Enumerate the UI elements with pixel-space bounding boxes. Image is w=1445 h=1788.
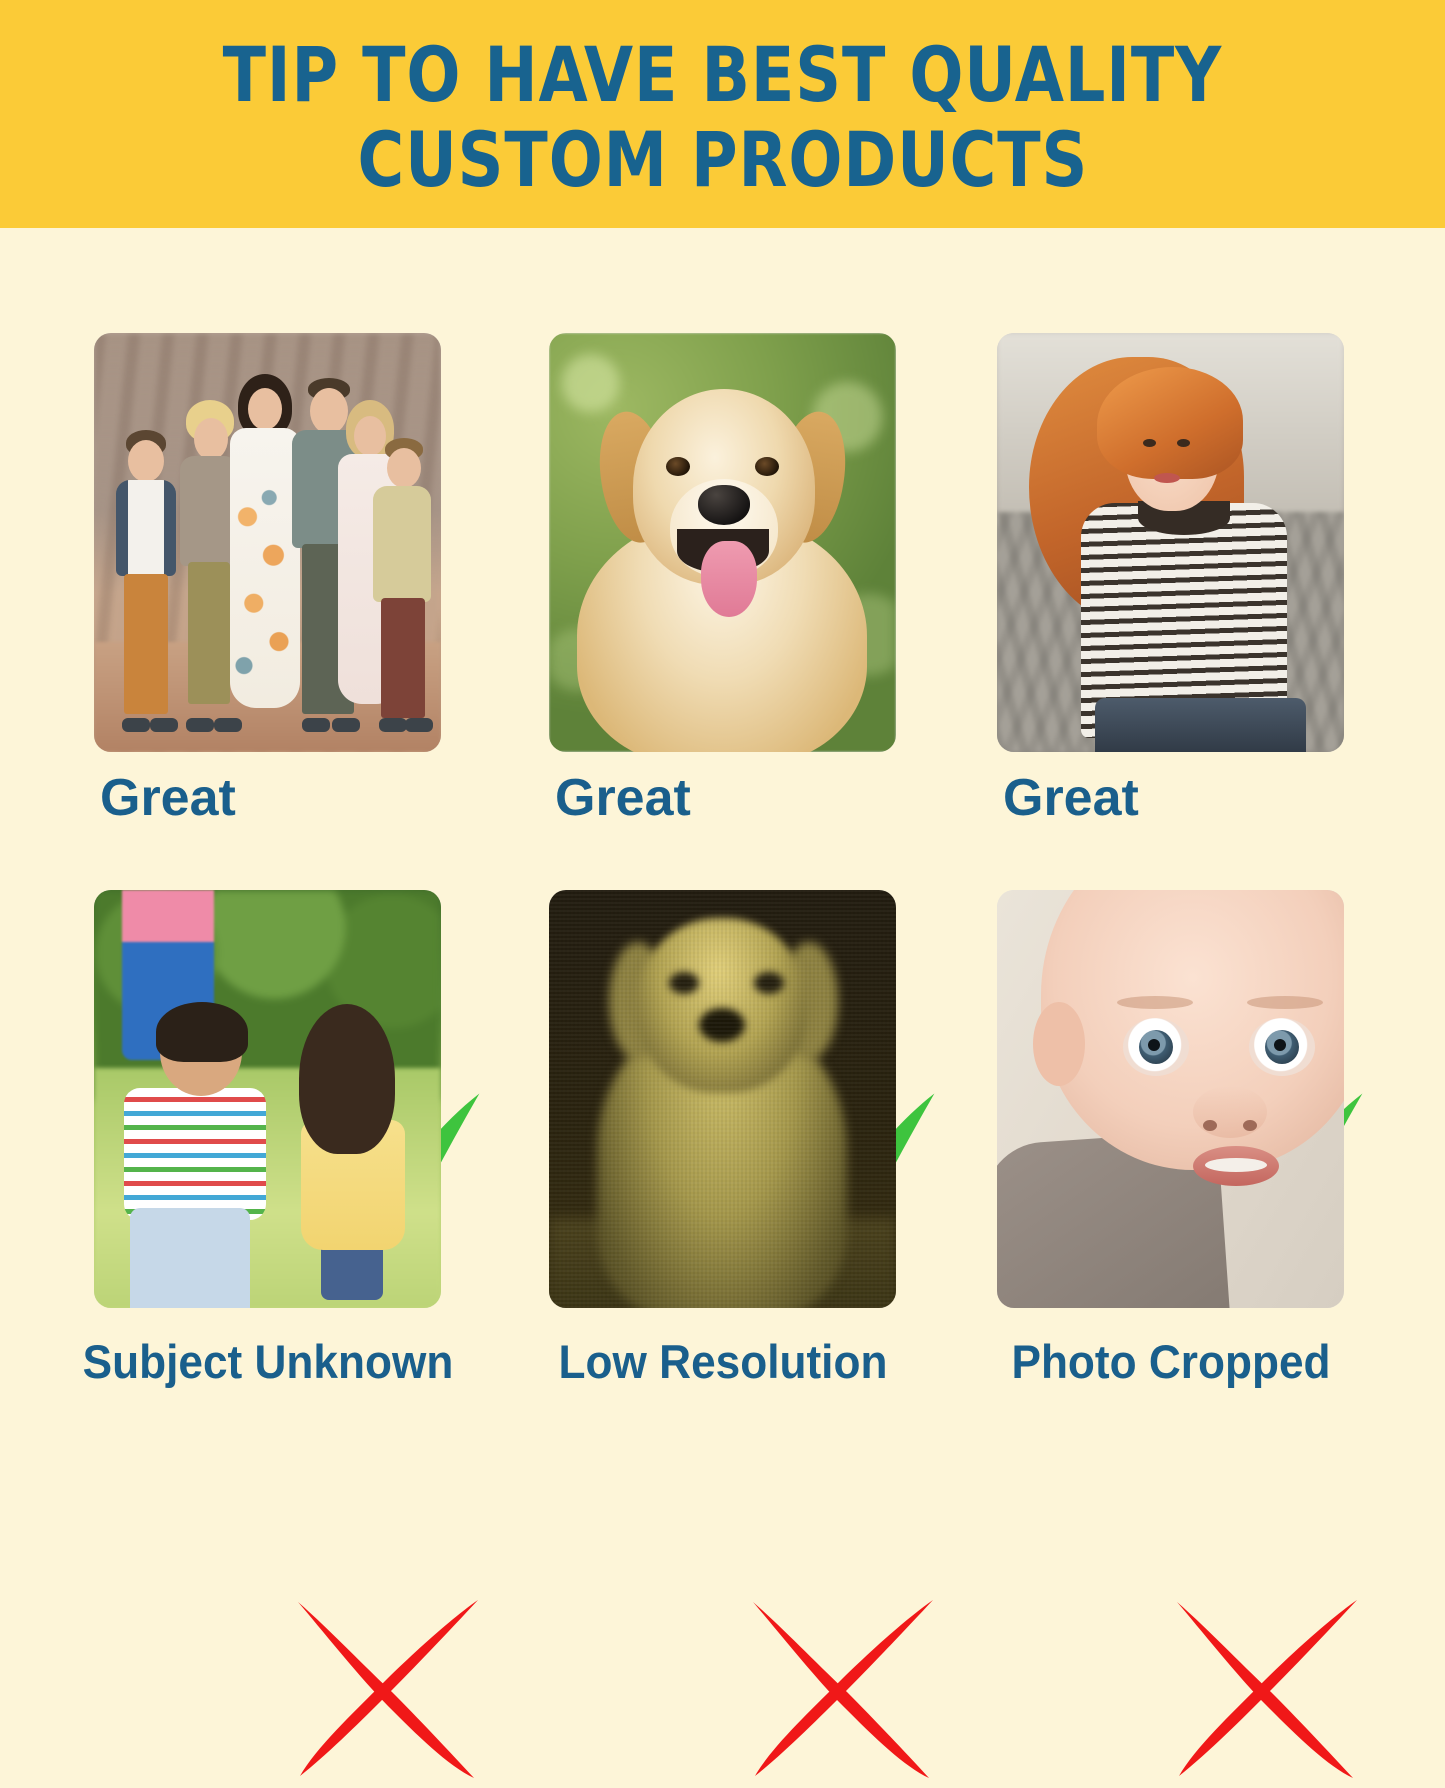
- dog-nose: [698, 485, 750, 525]
- example-card-family-photo: Great: [94, 333, 441, 848]
- photo-artwork-children: [94, 890, 441, 1308]
- baby-nostril-left: [1203, 1120, 1217, 1131]
- head: [128, 440, 164, 482]
- dog-tongue: [701, 541, 757, 617]
- shoe: [122, 718, 150, 732]
- photo-cropped-baby: [997, 890, 1344, 1308]
- photo-golden-retriever-sharp: [549, 333, 896, 752]
- torso: [116, 480, 176, 576]
- torso: [373, 486, 431, 602]
- child-boy: [114, 1008, 284, 1308]
- example-card-cropped-baby: Photo Cropped: [997, 890, 1344, 1404]
- baby-brow-left: [1117, 996, 1193, 1009]
- pixelation-noise: [549, 890, 896, 1308]
- baby-nose: [1193, 1086, 1267, 1138]
- dog-eye-left: [666, 457, 690, 476]
- woman-eye-right: [1177, 439, 1190, 447]
- examples-grid: Great: [0, 228, 1445, 1445]
- caption-label: Great: [100, 768, 236, 828]
- example-card-red-haired-woman: Great: [997, 333, 1344, 848]
- photo-children-playing: [94, 890, 441, 1308]
- photo-family-photo: [94, 333, 441, 752]
- baby-brow-right: [1247, 996, 1323, 1009]
- shoe: [302, 718, 330, 732]
- caption-row: Great: [997, 752, 1344, 848]
- caption-label: Great: [1003, 768, 1139, 828]
- child-girl: [285, 1004, 425, 1294]
- boy-striped-shirt: [124, 1088, 266, 1220]
- boy-shorts: [130, 1208, 250, 1308]
- woman-hair-top: [1097, 367, 1243, 479]
- woman-jeans: [1095, 698, 1306, 752]
- woman-lips: [1154, 473, 1180, 483]
- legs: [124, 574, 168, 714]
- shoe: [186, 718, 214, 732]
- infographic-page: TIP TO HAVE BEST QUALITY CUSTOM PRODUCTS: [0, 0, 1445, 1445]
- legs: [381, 598, 425, 718]
- caption-row: Low Resolution: [549, 1308, 896, 1404]
- caption-label: Low Resolution: [558, 1334, 887, 1389]
- example-card-children-playing: Subject Unknown: [94, 890, 441, 1404]
- caption-label: Great: [555, 768, 691, 828]
- baby-iris-right: [1265, 1030, 1299, 1064]
- cross-icon: [738, 1588, 948, 1788]
- caption-label: Subject Unknown: [82, 1334, 453, 1389]
- header-banner: TIP TO HAVE BEST QUALITY CUSTOM PRODUCTS: [0, 0, 1445, 228]
- cross-icon: [1162, 1588, 1372, 1788]
- photo-artwork-family: [94, 333, 441, 752]
- caption-row: Great: [94, 752, 441, 848]
- person-young-boy: [371, 438, 435, 730]
- cross-icon: [283, 1588, 493, 1788]
- photo-artwork-lowres-dog: [549, 890, 896, 1308]
- caption-row: Photo Cropped: [997, 1308, 1344, 1404]
- person-boy-left: [112, 430, 178, 730]
- woman-eye-left: [1143, 439, 1156, 447]
- baby-iris-left: [1139, 1030, 1173, 1064]
- photo-red-haired-woman: [997, 333, 1344, 752]
- head: [248, 388, 282, 430]
- boy-hair: [156, 1002, 248, 1062]
- photo-artwork-dog: [549, 333, 896, 752]
- shoe: [379, 718, 407, 732]
- caption-row: Great: [549, 752, 896, 848]
- photo-artwork-woman: [997, 333, 1344, 752]
- header-title-line-1: TIP TO HAVE BEST QUALITY: [223, 32, 1223, 117]
- dog-eye-right: [755, 457, 779, 476]
- girl-hair: [299, 1004, 395, 1154]
- photo-artwork-baby: [997, 890, 1344, 1308]
- baby-mouth: [1193, 1146, 1279, 1186]
- caption-row: Subject Unknown: [94, 1308, 441, 1404]
- photo-dark-blurry-dog: [549, 890, 896, 1308]
- example-card-dark-blurry-dog: Low Resolution: [549, 890, 896, 1404]
- baby-eye-left: [1123, 1018, 1189, 1076]
- baby-nostril-right: [1243, 1120, 1257, 1131]
- header-title-line-2: CUSTOM PRODUCTS: [357, 117, 1088, 202]
- example-card-golden-retriever-sharp: Great: [549, 333, 896, 848]
- baby-eye-right: [1249, 1018, 1315, 1076]
- caption-label: Photo Cropped: [1011, 1334, 1330, 1389]
- baby-ear: [1033, 1002, 1085, 1086]
- head: [387, 448, 421, 488]
- shoe: [405, 718, 433, 732]
